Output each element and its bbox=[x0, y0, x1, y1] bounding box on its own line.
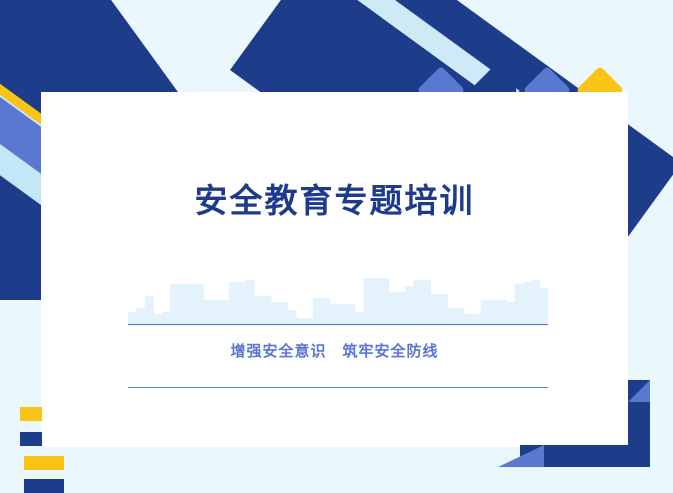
bar-yellow-short bbox=[20, 407, 42, 421]
presentation-subtitle: 增强安全意识 筑牢安全防线 bbox=[41, 340, 628, 361]
bar-navy-long bbox=[24, 479, 64, 493]
page-title: 安全教育专题培训 bbox=[41, 174, 628, 222]
divider-top bbox=[128, 324, 548, 325]
content-card: 安全教育专题培训 增强安全意识 筑牢安全防线 bbox=[41, 92, 628, 447]
city-skyline-icon bbox=[128, 274, 548, 326]
bar-yellow-long bbox=[24, 456, 64, 470]
slide-cover: 安全教育专题培训 增强安全意识 筑牢安全防线 bbox=[0, 0, 673, 493]
bar-navy-short bbox=[20, 432, 42, 446]
divider-bottom bbox=[128, 387, 548, 388]
